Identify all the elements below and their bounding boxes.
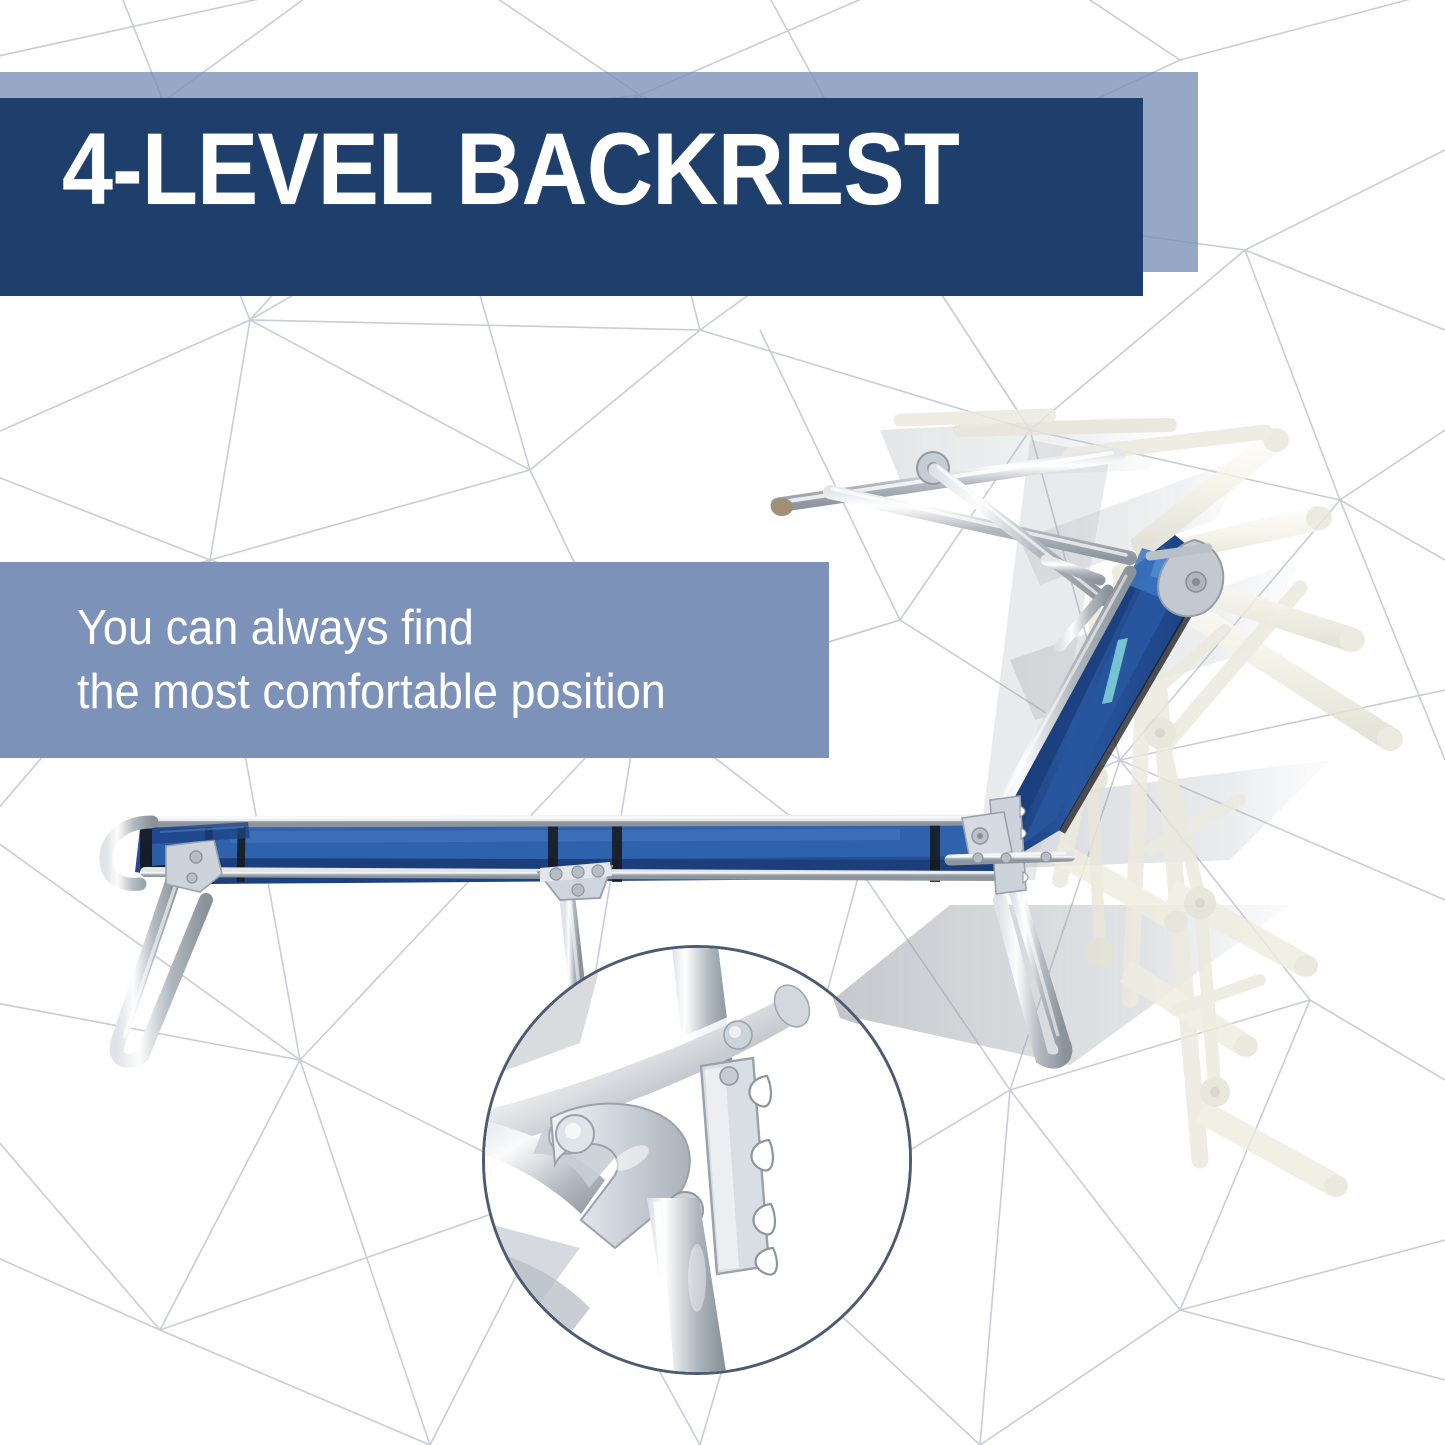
front-leg — [117, 840, 222, 1061]
magnifier-ring — [482, 945, 912, 1375]
magnifier-detail-view — [485, 948, 912, 1375]
subtitle-text: You can always find the most comfortable… — [77, 596, 666, 724]
subtitle-line-2: the most comfortable position — [77, 660, 666, 724]
magnifier-callout — [482, 945, 918, 1381]
subtitle-line-1: You can always find — [77, 596, 666, 660]
page-title: 4-LEVEL BACKREST — [62, 118, 959, 220]
infographic-canvas: 4-LEVEL BACKREST You can always find the… — [0, 0, 1445, 1445]
